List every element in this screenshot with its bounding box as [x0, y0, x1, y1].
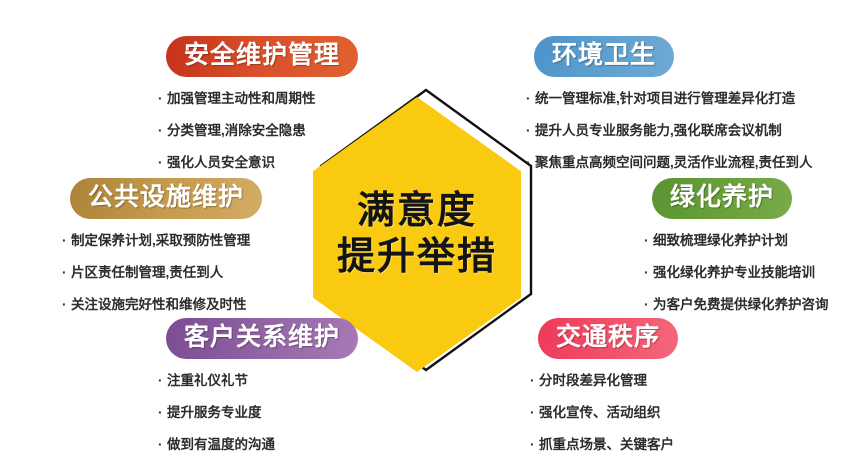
point-text: 强化宣传、活动组织 — [539, 405, 661, 420]
center-label-line1: 满意度 — [357, 190, 477, 234]
list-item: ·分类管理,消除安全隐患 — [158, 123, 358, 139]
topic-badge-greening[interactable]: 绿化养护 — [652, 178, 792, 219]
center-label-line2: 提升举措 — [337, 236, 497, 280]
topic-block-greening: 绿化养护 ·细致梳理绿化养护计划 ·强化绿化养护专业技能培训 ·为客户免费提供绿… — [644, 178, 829, 329]
topic-block-safety: 安全维护管理 ·加强管理主动性和周期性 ·分类管理,消除安全隐患 ·强化人员安全… — [158, 36, 358, 187]
bullet-icon: · — [62, 265, 71, 281]
bullet-icon: · — [530, 437, 539, 453]
list-item: ·为客户免费提供绿化养护咨询 — [644, 297, 829, 313]
points-list-environment: ·统一管理标准,针对项目进行管理差异化打造 ·提升人员专业服务能力,强化联席会议… — [526, 91, 813, 172]
badge-row-facility: 公共设施维护 — [70, 178, 262, 219]
topic-block-facility: 公共设施维护 ·制定保养计划,采取预防性管理 ·片区责任制管理,责任到人 ·关注… — [62, 178, 262, 329]
infographic-canvas: 满意度 提升举措 安全维护管理 ·加强管理主动性和周期性 ·分类管理,消除安全隐… — [0, 0, 846, 475]
point-text: 强化绿化养护专业技能培训 — [653, 265, 815, 280]
bullet-icon: · — [62, 233, 71, 249]
list-item: ·细致梳理绿化养护计划 — [644, 233, 829, 249]
list-item: ·强化宣传、活动组织 — [530, 405, 678, 421]
list-item: ·抓重点场景、关键客户 — [530, 437, 678, 453]
bullet-icon: · — [644, 297, 653, 313]
badge-row-environment: 环境卫生 — [534, 36, 813, 77]
point-text: 片区责任制管理,责任到人 — [71, 265, 223, 280]
point-text: 提升人员专业服务能力,强化联席会议机制 — [535, 123, 782, 138]
list-item: ·聚焦重点高频空间问题,灵活作业流程,责任到人 — [526, 155, 813, 171]
point-text: 加强管理主动性和周期性 — [167, 91, 316, 106]
bullet-icon: · — [158, 373, 167, 389]
bullet-icon: · — [644, 233, 653, 249]
bullet-icon: · — [158, 91, 167, 107]
list-item: ·片区责任制管理,责任到人 — [62, 265, 262, 281]
list-item: ·分时段差异化管理 — [530, 373, 678, 389]
list-item: ·强化人员安全意识 — [158, 155, 358, 171]
list-item: ·制定保养计划,采取预防性管理 — [62, 233, 262, 249]
point-text: 分时段差异化管理 — [539, 373, 647, 388]
topic-block-traffic: 交通秩序 ·分时段差异化管理 ·强化宣传、活动组织 ·抓重点场景、关键客户 — [530, 318, 678, 469]
points-list-greening: ·细致梳理绿化养护计划 ·强化绿化养护专业技能培训 ·为客户免费提供绿化养护咨询 — [644, 233, 829, 314]
badge-row-customer: 客户关系维护 — [166, 318, 358, 359]
points-list-facility: ·制定保养计划,采取预防性管理 ·片区责任制管理,责任到人 ·关注设施完好性和维… — [62, 233, 262, 314]
bullet-icon: · — [526, 123, 535, 139]
point-text: 细致梳理绿化养护计划 — [653, 233, 788, 248]
point-text: 注重礼仪礼节 — [167, 373, 248, 388]
topic-badge-safety[interactable]: 安全维护管理 — [166, 36, 358, 77]
topic-badge-environment[interactable]: 环境卫生 — [534, 36, 674, 77]
points-list-traffic: ·分时段差异化管理 ·强化宣传、活动组织 ·抓重点场景、关键客户 — [530, 373, 678, 454]
list-item: ·统一管理标准,针对项目进行管理差异化打造 — [526, 91, 813, 107]
bullet-icon: · — [526, 155, 535, 171]
badge-row-traffic: 交通秩序 — [538, 318, 678, 359]
point-text: 制定保养计划,采取预防性管理 — [71, 233, 250, 248]
bullet-icon: · — [530, 373, 539, 389]
bullet-icon: · — [62, 297, 71, 313]
topic-badge-traffic[interactable]: 交通秩序 — [538, 318, 678, 359]
bullet-icon: · — [158, 155, 167, 171]
list-item: ·做到有温度的沟通 — [158, 437, 358, 453]
point-text: 为客户免费提供绿化养护咨询 — [653, 297, 829, 312]
topic-badge-facility[interactable]: 公共设施维护 — [70, 178, 262, 219]
list-item: ·关注设施完好性和维修及时性 — [62, 297, 262, 313]
point-text: 分类管理,消除安全隐患 — [167, 123, 306, 138]
topic-badge-customer[interactable]: 客户关系维护 — [166, 318, 358, 359]
point-text: 聚焦重点高频空间问题,灵活作业流程,责任到人 — [535, 155, 813, 170]
point-text: 统一管理标准,针对项目进行管理差异化打造 — [535, 91, 795, 106]
point-text: 提升服务专业度 — [167, 405, 262, 420]
point-text: 抓重点场景、关键客户 — [539, 437, 674, 452]
bullet-icon: · — [526, 91, 535, 107]
points-list-customer: ·注重礼仪礼节 ·提升服务专业度 ·做到有温度的沟通 — [158, 373, 358, 454]
topic-block-environment: 环境卫生 ·统一管理标准,针对项目进行管理差异化打造 ·提升人员专业服务能力,强… — [526, 36, 813, 187]
point-text: 做到有温度的沟通 — [167, 437, 275, 452]
points-list-safety: ·加强管理主动性和周期性 ·分类管理,消除安全隐患 ·强化人员安全意识 — [158, 91, 358, 172]
bullet-icon: · — [530, 405, 539, 421]
list-item: ·提升服务专业度 — [158, 405, 358, 421]
list-item: ·注重礼仪礼节 — [158, 373, 358, 389]
bullet-icon: · — [158, 405, 167, 421]
badge-row-greening: 绿化养护 — [652, 178, 829, 219]
list-item: ·强化绿化养护专业技能培训 — [644, 265, 829, 281]
point-text: 强化人员安全意识 — [167, 155, 275, 170]
bullet-icon: · — [158, 437, 167, 453]
bullet-icon: · — [644, 265, 653, 281]
bullet-icon: · — [158, 123, 167, 139]
point-text: 关注设施完好性和维修及时性 — [71, 297, 247, 312]
topic-block-customer: 客户关系维护 ·注重礼仪礼节 ·提升服务专业度 ·做到有温度的沟通 — [158, 318, 358, 469]
list-item: ·提升人员专业服务能力,强化联席会议机制 — [526, 123, 813, 139]
badge-row-safety: 安全维护管理 — [166, 36, 358, 77]
list-item: ·加强管理主动性和周期性 — [158, 91, 358, 107]
